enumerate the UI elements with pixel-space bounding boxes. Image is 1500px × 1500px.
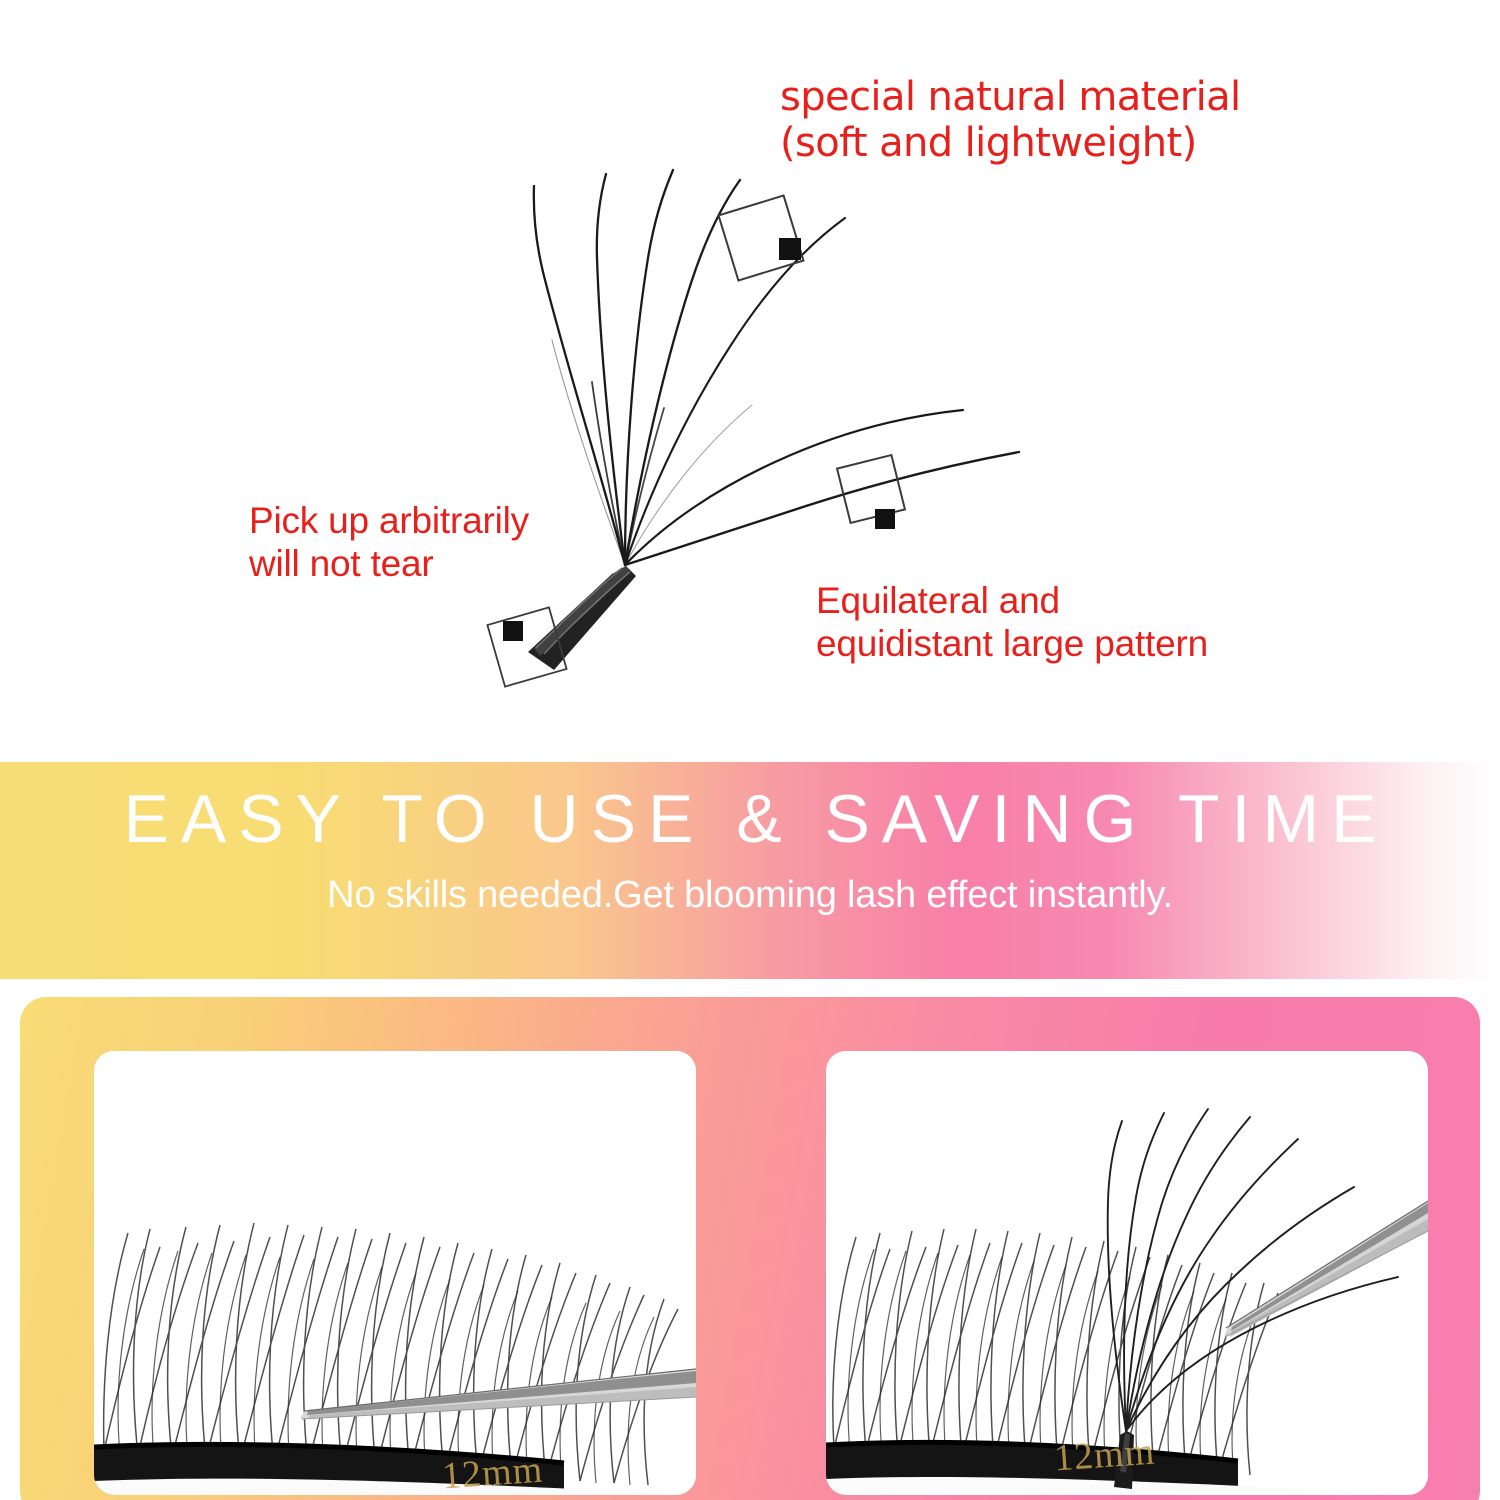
callout-equilateral: Equilateral and equidistant large patter…	[816, 580, 1208, 666]
callout-pick-up: Pick up arbitrarily will not tear	[249, 500, 529, 586]
banner-subtitle: No skills needed.Get blooming lash effec…	[0, 874, 1500, 917]
lash-base-stem	[528, 566, 636, 670]
photo-caption-mm-right: 12mm	[1053, 1430, 1157, 1481]
photo-caption-mm-left: 12mm	[441, 1448, 545, 1495]
photo-frame: 12mm	[20, 997, 1480, 1500]
headline-banner: EASY TO USE & SAVING TIME No skills need…	[0, 762, 1500, 979]
hero-diagram-section: special natural material (soft and light…	[0, 0, 1500, 762]
photo-card-lash-tray: 12mm	[94, 1051, 696, 1495]
banner-title: EASY TO USE & SAVING TIME	[0, 780, 1500, 858]
photo-card-lash-fan: 12mm	[826, 1051, 1428, 1495]
callout-special-material: special natural material (soft and light…	[780, 74, 1241, 167]
lash-tray-photo	[94, 1051, 696, 1495]
photo-strip-section: 12mm	[0, 979, 1500, 1500]
lash-fan-photo	[826, 1051, 1428, 1495]
lash-fan-illustration	[0, 0, 1500, 762]
